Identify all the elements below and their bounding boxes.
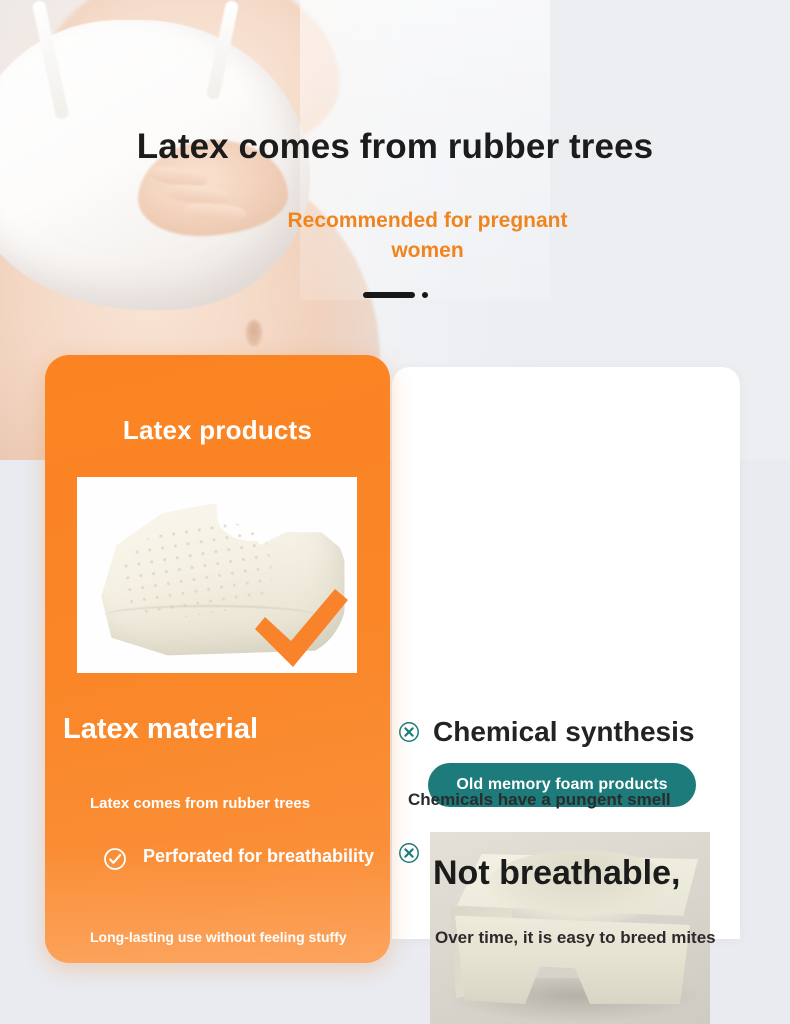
con-point-1-row: Chemical synthesis	[398, 716, 694, 748]
pro-card: Latex products Latex material Latex come…	[45, 355, 390, 963]
comparison-section: Latex products Latex material Latex come…	[0, 355, 790, 1009]
con-point-1-detail: Chemicals have a pungent smell	[408, 790, 671, 810]
pro-heading: Latex material	[63, 713, 383, 746]
con-point-2-detail: Over time, it is easy to breed mites	[435, 928, 716, 948]
pro-product-image	[77, 477, 357, 673]
hero-subtitle: Recommended for pregnant women	[250, 206, 605, 266]
con-point-2-heading: Not breathable,	[433, 854, 680, 893]
pagination-dot-inactive[interactable]	[422, 292, 428, 298]
pro-subheading: Latex comes from rubber trees	[90, 795, 380, 812]
x-circle-icon	[398, 721, 420, 743]
con-point-2-row: Not breathable,	[398, 842, 680, 893]
pagination-dot-active[interactable]	[363, 292, 415, 298]
pro-badge-label: Latex products	[45, 415, 390, 446]
hero-pagination[interactable]	[0, 292, 790, 298]
con-point-1-heading: Chemical synthesis	[433, 716, 694, 748]
photo-navel	[246, 320, 262, 346]
pro-feature-row: Perforated for breathability	[103, 845, 383, 871]
pro-footnote: Long-lasting use without feeling stuffy	[90, 929, 390, 945]
check-mark-icon	[249, 579, 353, 671]
check-circle-icon	[103, 847, 127, 871]
x-circle-icon	[398, 842, 420, 864]
pro-feature-label: Perforated for breathability	[143, 845, 374, 867]
hero-title: Latex comes from rubber trees	[0, 127, 790, 167]
